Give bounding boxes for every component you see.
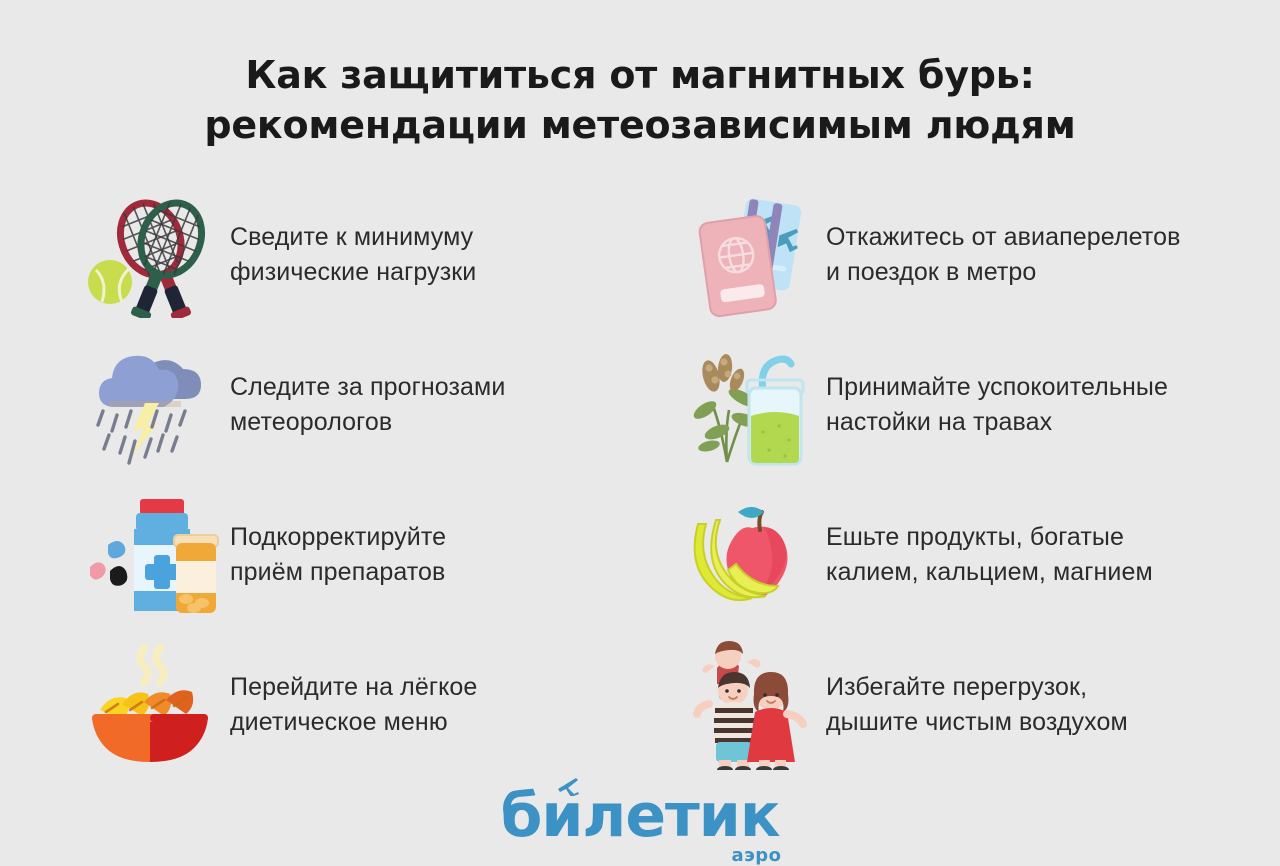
logo-word: билетик (500, 781, 779, 851)
herbal-smoothie-jar-icon (680, 339, 820, 471)
tip-text: Перейдите на лёгкое диетическое меню (224, 670, 477, 741)
tip-text: Следите за прогнозами метеорологов (224, 370, 505, 441)
tip-line-1: Перейдите на лёгкое (230, 673, 477, 701)
tip-text: Принимайте успокоительные настойки на тр… (820, 370, 1168, 441)
tip-item: Перейдите на лёгкое диетическое меню (84, 630, 670, 780)
family-children-icon (680, 639, 820, 771)
tennis-rackets-icon (84, 189, 224, 321)
tip-text: Ешьте продукты, богатые калием, кальцием… (820, 520, 1153, 591)
tips-grid: Сведите к минимуму физические нагрузки (0, 180, 1280, 780)
title-line-1: Как защититься от магнитных бурь: (60, 50, 1220, 100)
tip-text: Откажитесь от авиаперелетов и поездок в … (820, 220, 1180, 291)
hot-food-bowl-icon (84, 639, 224, 771)
title-line-2: рекомендации метеозависимым людям (60, 100, 1220, 150)
tip-line-2: приём препаратов (230, 555, 446, 591)
tip-line-1: Избегайте перегрузок, (826, 673, 1087, 701)
tip-line-1: Подкорректируйте (230, 523, 446, 551)
tip-item: Подкорректируйте приём препаратов (84, 480, 670, 630)
tip-line-2: и поездок в метро (826, 255, 1180, 291)
rain-cloud-lightning-icon (84, 339, 224, 471)
tip-line-2: физические нагрузки (230, 255, 476, 291)
tip-line-2: метеорологов (230, 405, 505, 441)
infographic-root: Как защититься от магнитных бурь: рекоме… (0, 0, 1280, 853)
brand-logo[interactable]: билетик аэро (500, 786, 779, 846)
tip-item: Ешьте продукты, богатые калием, кальцием… (680, 480, 1280, 630)
tip-line-1: Принимайте успокоительные (826, 373, 1168, 401)
tip-text: Сведите к минимуму физические нагрузки (224, 220, 476, 291)
tip-line-2: калием, кальцием, магнием (826, 555, 1153, 591)
tip-item: Следите за прогнозами метеорологов (84, 330, 670, 480)
tip-line-1: Следите за прогнозами (230, 373, 505, 401)
banana-apple-icon (680, 489, 820, 621)
tip-item: Принимайте успокоительные настойки на тр… (680, 330, 1280, 480)
logo-area: билетик аэро (0, 786, 1280, 846)
tip-line-2: настойки на травах (826, 405, 1168, 441)
tip-line-2: дышите чистым воздухом (826, 705, 1128, 741)
tip-text: Подкорректируйте приём препаратов (224, 520, 446, 591)
logo-subtitle: аэро (731, 845, 781, 866)
tip-text: Избегайте перегрузок, дышите чистым возд… (820, 670, 1128, 741)
tip-item: Избегайте перегрузок, дышите чистым возд… (680, 630, 1280, 780)
tip-item: Откажитесь от авиаперелетов и поездок в … (680, 180, 1280, 330)
tip-line-1: Ешьте продукты, богатые (826, 523, 1124, 551)
airplane-icon (556, 776, 582, 801)
passport-tickets-icon (680, 189, 820, 321)
tip-line-1: Откажитесь от авиаперелетов (826, 223, 1180, 251)
tip-item: Сведите к минимуму физические нагрузки (84, 180, 670, 330)
page-title: Как защититься от магнитных бурь: рекоме… (0, 40, 1280, 150)
medicine-bottles-icon (84, 489, 224, 621)
tip-line-2: диетическое меню (230, 705, 477, 741)
tip-line-1: Сведите к минимуму (230, 223, 473, 251)
